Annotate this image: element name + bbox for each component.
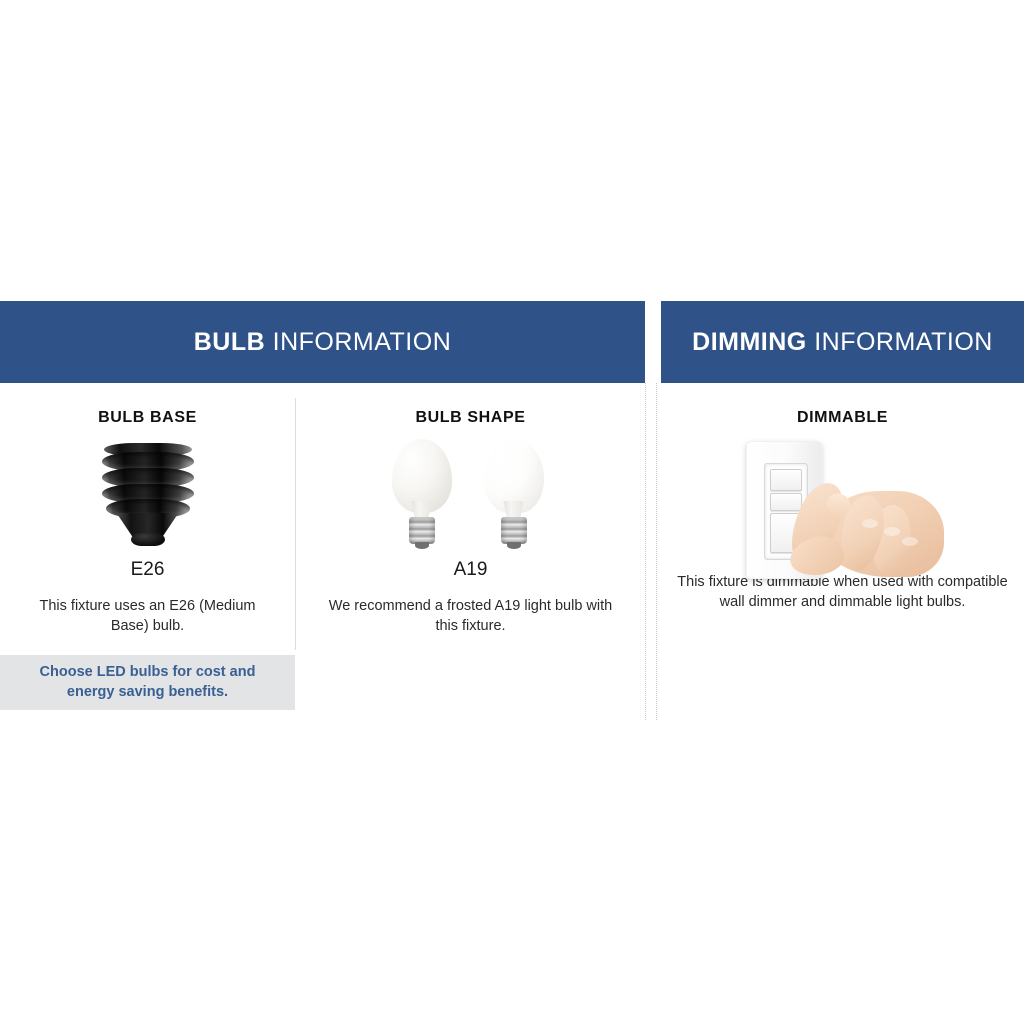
dimming-header-strong: DIMMING (692, 328, 807, 356)
bulb-information-header: BULB INFORMATION (0, 301, 645, 383)
panel-divider-dotted-right (656, 383, 657, 720)
wall-dimmer-switch-icon (661, 439, 1024, 557)
bulb-information-title: BULB INFORMATION (194, 330, 452, 355)
dimmer-scene-graphic (736, 439, 950, 585)
hand-knuckle (862, 519, 878, 528)
bulb-base-description: This fixture uses an E26 (Medium Base) b… (0, 597, 295, 636)
bulb-base-column: BULB BASE E26 This fixture uses an E26 (… (0, 383, 295, 636)
a19-bulbs-graphic (386, 439, 556, 554)
bulb-shape-title: BULB SHAPE (296, 409, 645, 427)
e26-base-graphic (100, 443, 196, 547)
bulb-screw-tip (415, 542, 429, 549)
led-callout-text: Choose LED bulbs for cost and energy sav… (0, 663, 295, 702)
bulb-screw-tip (507, 542, 521, 549)
bulb-screw-base (501, 517, 527, 544)
bulb-shape-description: We recommend a frosted A19 light bulb wi… (296, 597, 645, 636)
bulb-header-rest: INFORMATION (273, 328, 452, 356)
a19-bulb-incandescent (386, 439, 458, 551)
column-divider (295, 398, 296, 650)
hand-knuckle (902, 537, 918, 546)
dimming-information-panel: DIMMABLE (661, 383, 1024, 723)
dimming-information-title: DIMMING INFORMATION (692, 330, 993, 355)
bulb-shape-column: BULB SHAPE A19 We recommend a frosted A1… (296, 383, 645, 636)
hand-graphic (784, 475, 944, 583)
dimmable-title: DIMMABLE (661, 409, 1024, 427)
dimming-information-header: DIMMING INFORMATION (661, 301, 1024, 383)
e26-tip (131, 533, 165, 546)
a19-bulb-led (478, 439, 550, 551)
bulb-shape-spec: A19 (296, 559, 645, 581)
bulb-screw-base (409, 517, 435, 544)
a19-bulbs-icon (296, 439, 645, 557)
panel-divider-dotted-left (645, 383, 646, 720)
bulb-base-title: BULB BASE (0, 409, 295, 427)
led-callout-box: Choose LED bulbs for cost and energy sav… (0, 655, 295, 710)
e26-screw-base-icon (0, 439, 295, 557)
dimmable-column: DIMMABLE (661, 383, 1024, 612)
dimming-header-rest: INFORMATION (814, 328, 993, 356)
bulb-header-strong: BULB (194, 328, 265, 356)
bulb-base-spec: E26 (0, 559, 295, 581)
hand-knuckle (884, 527, 900, 536)
